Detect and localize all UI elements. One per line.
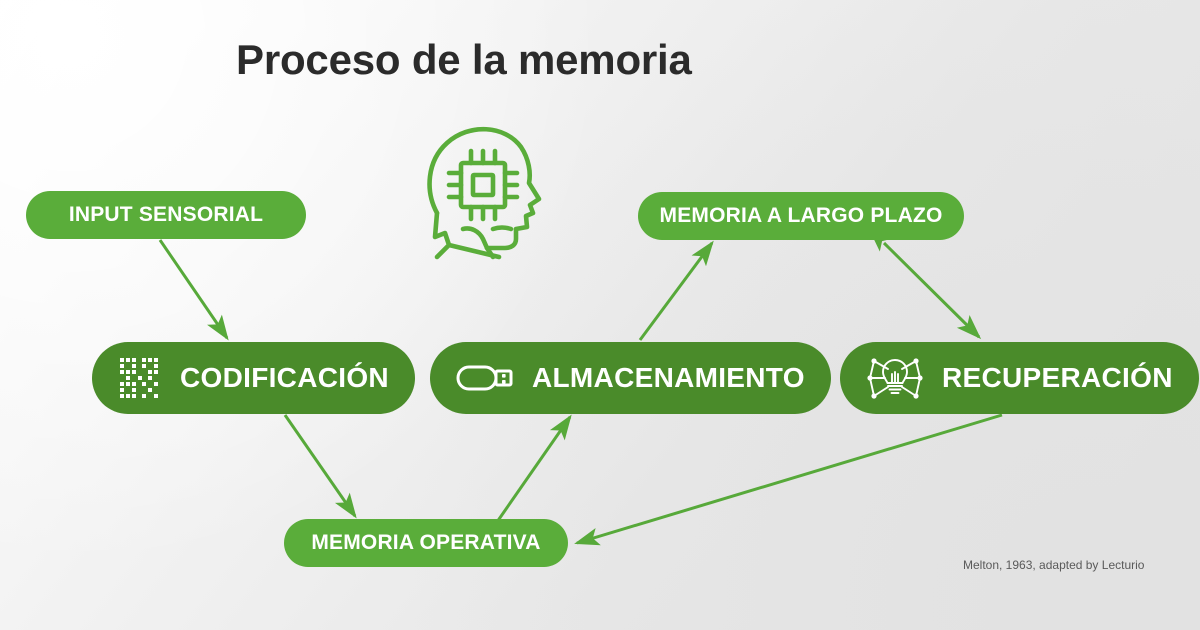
head-with-chip-icon — [413, 117, 563, 267]
qr-code-icon — [118, 356, 162, 400]
node-recuperacion[interactable]: RECUPERACIÓN — [840, 342, 1199, 414]
arrow-input-sensorial-to-codificacion — [160, 240, 227, 338]
node-input-sensorial[interactable]: INPUT SENSORIAL — [26, 191, 306, 239]
node-almacenamiento[interactable]: ALMACENAMIENTO — [430, 342, 831, 414]
node-almacenamiento-label: ALMACENAMIENTO — [532, 362, 805, 394]
usb-drive-icon — [456, 361, 514, 395]
arrow-memoria-largo-plazo-to-recuperacion — [884, 243, 979, 337]
node-input-sensorial-label: INPUT SENSORIAL — [69, 203, 263, 227]
memory-process-diagram: Proceso de la memoria — [0, 0, 1200, 630]
node-memoria-operativa[interactable]: MEMORIA OPERATIVA — [284, 519, 568, 567]
arrow-almacenamiento-to-memoria-largo-plazo — [640, 243, 712, 340]
attribution-text: Melton, 1963, adapted by Lecturio — [963, 558, 1144, 572]
arrow-memoria-operativa-to-almacenamiento — [497, 417, 570, 522]
node-memoria-largo-plazo[interactable]: MEMORIA A LARGO PLAZO — [638, 192, 964, 240]
node-codificacion-label: CODIFICACIÓN — [180, 362, 389, 394]
node-recuperacion-label: RECUPERACIÓN — [942, 362, 1173, 394]
connector-layer — [0, 0, 1200, 630]
node-memoria-largo-plazo-label: MEMORIA A LARGO PLAZO — [660, 204, 943, 228]
arrow-recuperacion-to-memoria-operativa — [577, 415, 1002, 543]
lightbulb-network-icon — [866, 353, 924, 403]
arrow-codificacion-to-memoria-operativa — [285, 415, 355, 516]
node-codificacion[interactable]: CODIFICACIÓN — [92, 342, 415, 414]
node-memoria-operativa-label: MEMORIA OPERATIVA — [311, 531, 540, 555]
